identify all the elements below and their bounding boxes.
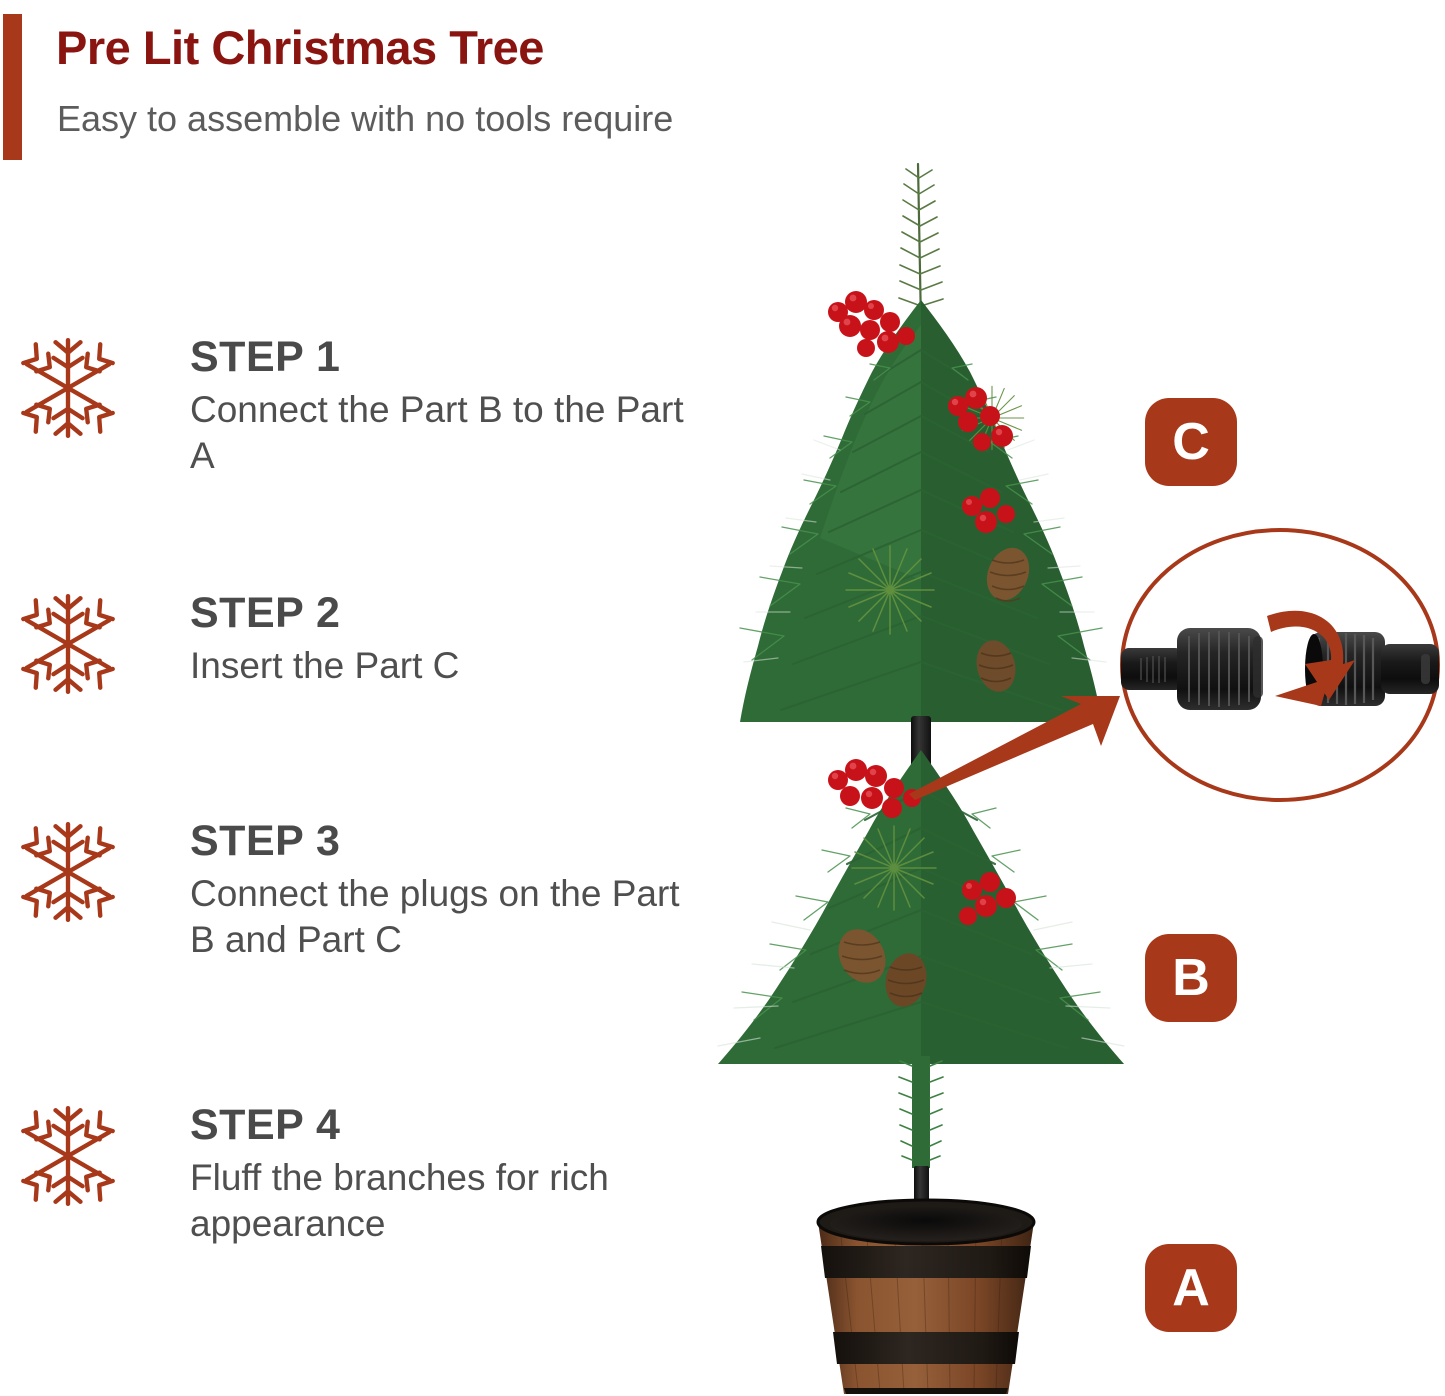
step-heading-3: STEP 3: [190, 820, 690, 863]
part-badge-a: A: [1145, 1244, 1237, 1332]
snowflake-icon: [16, 592, 120, 696]
tree-stand-pot: [818, 1200, 1034, 1394]
snowflake-icon: [16, 820, 120, 924]
header-accent-bar: [3, 14, 22, 160]
step-desc-3: Connect the plugs on the Part B and Part…: [190, 871, 690, 962]
step-text-3: STEP 3 Connect the plugs on the Part B a…: [190, 820, 690, 962]
callout-pointer-arrow: [905, 690, 1135, 800]
step-heading-2: STEP 2: [190, 592, 690, 635]
connector-detail-callout: [1115, 520, 1445, 810]
snowflake-icon: [16, 336, 120, 440]
part-badge-c: C: [1145, 398, 1237, 486]
snowflake-icon: [16, 1104, 120, 1208]
step-text-2: STEP 2 Insert the Part C: [190, 592, 690, 689]
step-desc-1: Connect the Part B to the Part A: [190, 387, 690, 478]
step-text-4: STEP 4 Fluff the branches for rich appea…: [190, 1104, 690, 1246]
step-heading-1: STEP 1: [190, 336, 690, 379]
step-heading-4: STEP 4: [190, 1104, 690, 1147]
page-title: Pre Lit Christmas Tree: [56, 20, 544, 75]
page-subtitle: Easy to assemble with no tools require: [57, 98, 673, 140]
step-desc-2: Insert the Part C: [190, 643, 690, 689]
part-badge-b: B: [1145, 934, 1237, 1022]
female-connector: [1121, 628, 1263, 710]
tree-section-b: [718, 750, 1124, 1238]
tree-section-c: [740, 164, 1106, 778]
step-desc-4: Fluff the branches for rich appearance: [190, 1155, 690, 1246]
step-text-1: STEP 1 Connect the Part B to the Part A: [190, 336, 690, 478]
